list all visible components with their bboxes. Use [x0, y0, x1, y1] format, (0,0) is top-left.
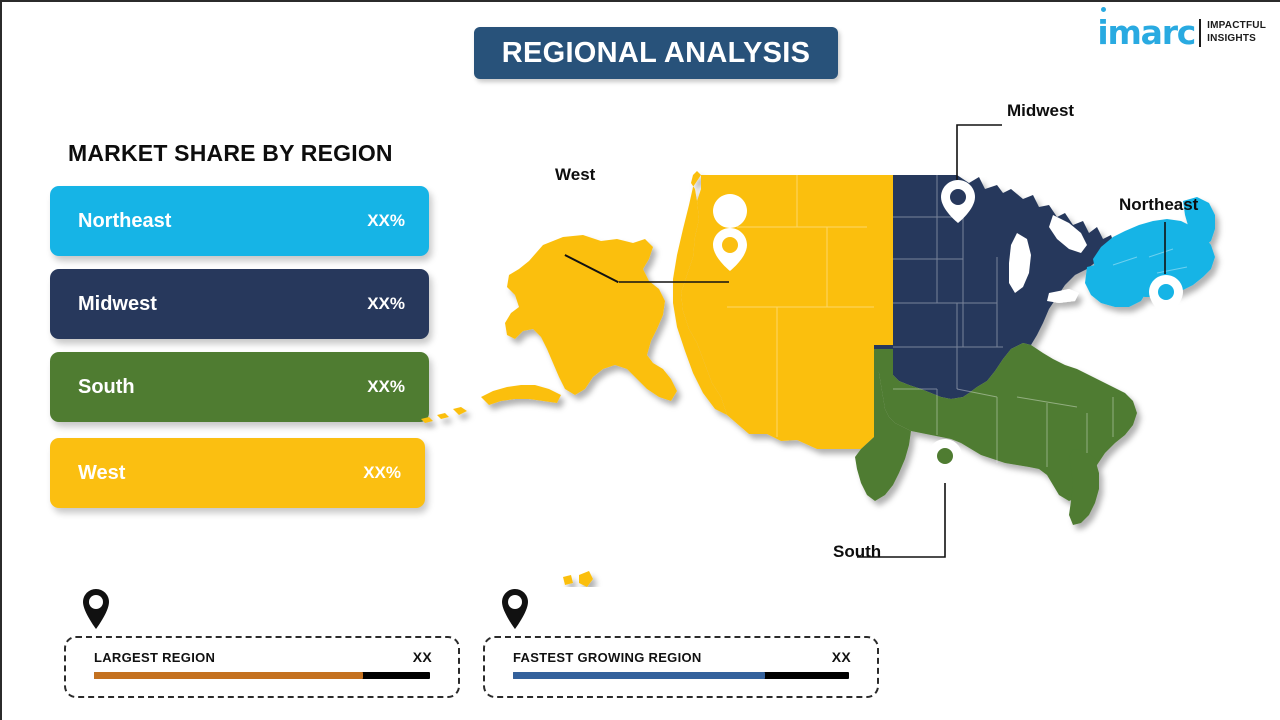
map-region-west — [681, 175, 893, 449]
largest-region-pin-icon — [80, 588, 112, 630]
fastest-growing-region-fill — [513, 672, 765, 679]
fastest-growing-region-label: FASTEST GROWING REGION — [513, 650, 702, 665]
largest-region-label: LARGEST REGION — [94, 650, 215, 665]
slide-canvas: REGIONAL ANALYSIS imarc IMPACTFUL INSIGH… — [0, 0, 1280, 720]
region-bar-south[interactable]: South XX% — [50, 352, 429, 422]
page-title: REGIONAL ANALYSIS — [474, 27, 838, 79]
logo-tagline-line2: INSIGHTS — [1207, 33, 1266, 46]
region-bar-midwest-label: Midwest — [78, 293, 157, 316]
page-title-text: REGIONAL ANALYSIS — [502, 37, 811, 70]
map-pin-south — [928, 439, 962, 482]
map-alaska-islands — [421, 407, 467, 423]
map-state-hawaii — [563, 571, 687, 587]
imarc-logo: imarc IMPACTFUL INSIGHTS — [1097, 16, 1266, 49]
map-state-alaska — [505, 235, 677, 401]
largest-region-value: XX — [413, 649, 432, 665]
largest-region-track — [94, 672, 430, 679]
logo-tagline-line1: IMPACTFUL — [1207, 20, 1266, 33]
region-bar-west-value: XX% — [363, 463, 401, 483]
region-bar-northeast-label: Northeast — [78, 210, 171, 233]
map-region-midwest — [874, 175, 1115, 399]
fastest-growing-region-track — [513, 672, 849, 679]
map-label-west: West — [555, 165, 595, 185]
fastest-growing-region-row: FASTEST GROWING REGION XX — [485, 638, 877, 665]
largest-region-row: LARGEST REGION XX — [66, 638, 458, 665]
region-bar-south-label: South — [78, 376, 135, 399]
logo-wordmark: imarc — [1097, 16, 1195, 49]
logo-wordmark-group: imarc — [1097, 16, 1195, 49]
market-share-heading: MARKET SHARE BY REGION — [68, 140, 393, 167]
region-bar-midwest[interactable]: Midwest XX% — [50, 269, 429, 339]
us-regional-map — [397, 97, 1277, 587]
logo-tagline: IMPACTFUL INSIGHTS — [1207, 20, 1266, 45]
map-label-south: South — [833, 542, 881, 562]
region-bar-west-label: West — [78, 462, 125, 485]
map-state-florida — [1069, 449, 1099, 525]
map-label-midwest: Midwest — [1007, 101, 1074, 121]
largest-region-card[interactable]: LARGEST REGION XX — [64, 636, 460, 698]
fastest-growing-region-value: XX — [832, 649, 851, 665]
largest-region-fill — [94, 672, 363, 679]
region-bar-northeast[interactable]: Northeast XX% — [50, 186, 429, 256]
region-bar-west[interactable]: West XX% — [50, 438, 425, 508]
leader-midwest — [957, 125, 1002, 180]
map-label-northeast: Northeast — [1119, 195, 1198, 215]
logo-dot-icon — [1101, 7, 1106, 12]
map-pin-northeast — [1149, 275, 1183, 318]
fastest-growing-region-card[interactable]: FASTEST GROWING REGION XX — [483, 636, 879, 698]
fastest-growing-region-pin-icon — [499, 588, 531, 630]
logo-divider — [1199, 19, 1201, 47]
map-alaska-peninsula — [481, 385, 561, 405]
